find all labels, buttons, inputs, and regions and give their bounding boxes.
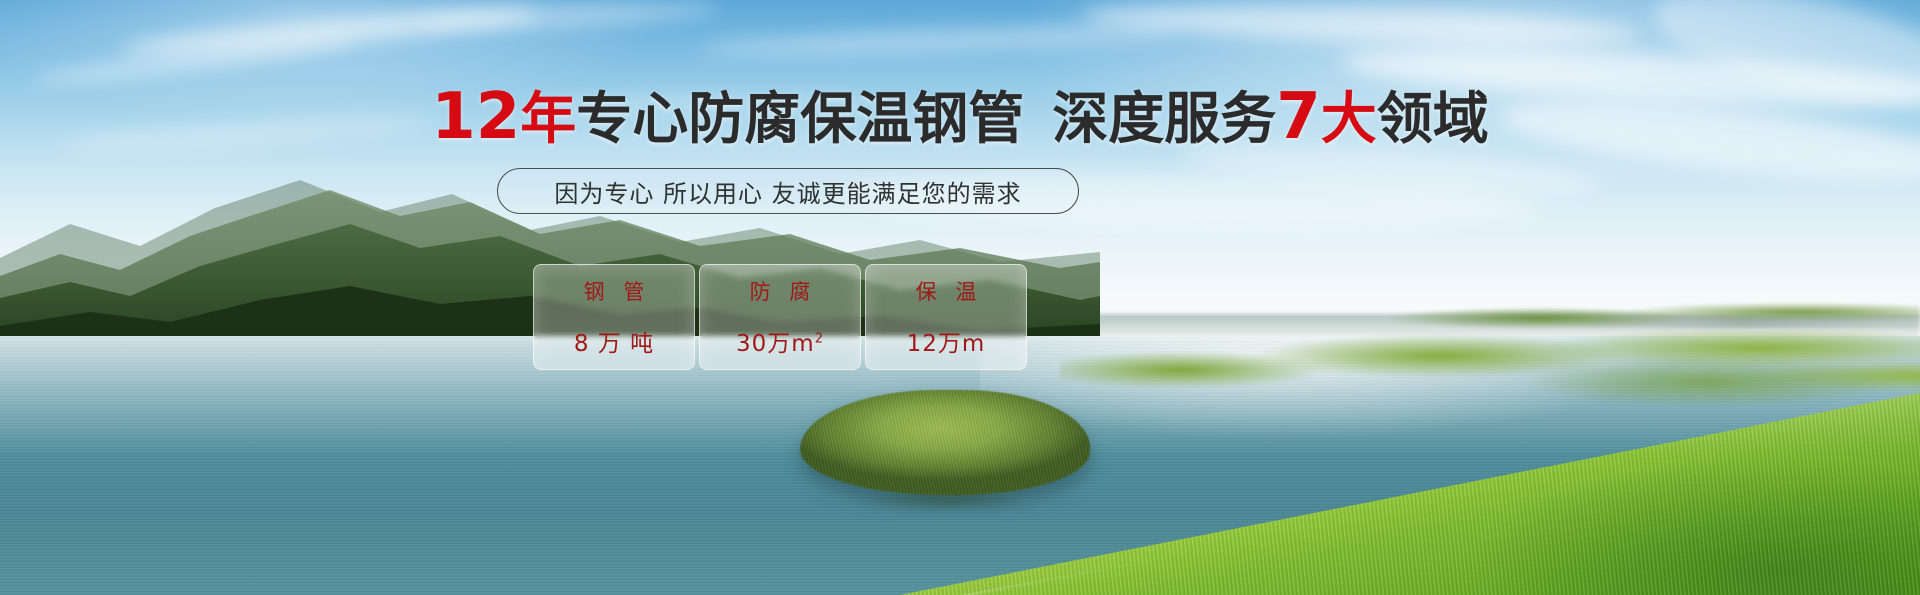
stat-card-group: 钢 管 8 万 吨 防 腐 30万m2 保 温 12万m	[533, 264, 1027, 370]
headline-service-text: 深度服务	[1052, 87, 1276, 152]
headline-main-text: 专心防腐保温钢管	[576, 87, 1024, 152]
stat-value: 12万m	[907, 324, 986, 358]
grass-island-texture	[800, 390, 1090, 495]
headline-years-number: 12	[431, 80, 520, 154]
subtitle-text: 因为专心 所以用心 友诚更能满足您的需求	[554, 174, 1021, 209]
stat-label: 钢 管	[578, 276, 651, 306]
headline-fields-number: 7	[1276, 80, 1321, 154]
stat-card-insulation: 保 温 12万m	[865, 264, 1027, 370]
stat-label: 保 温	[910, 276, 983, 306]
headline: 12年专心防腐保温钢管深度服务7大领域	[0, 86, 1920, 151]
promo-banner: 12年专心防腐保温钢管深度服务7大领域 因为专心 所以用心 友诚更能满足您的需求…	[0, 0, 1920, 595]
headline-fields-text: 领域	[1377, 87, 1489, 152]
headline-years-unit: 年	[520, 87, 576, 152]
stat-value: 8 万 吨	[574, 324, 654, 358]
stat-card-anticorrosion: 防 腐 30万m2	[699, 264, 861, 370]
headline-fields-unit: 大	[1321, 87, 1377, 152]
stat-label: 防 腐	[744, 276, 817, 306]
subtitle-pill: 因为专心 所以用心 友诚更能满足您的需求	[497, 168, 1079, 214]
stat-card-steel-pipe: 钢 管 8 万 吨	[533, 264, 695, 370]
stat-value: 30万m2	[736, 324, 824, 358]
stat-value-exponent: 2	[815, 331, 824, 346]
